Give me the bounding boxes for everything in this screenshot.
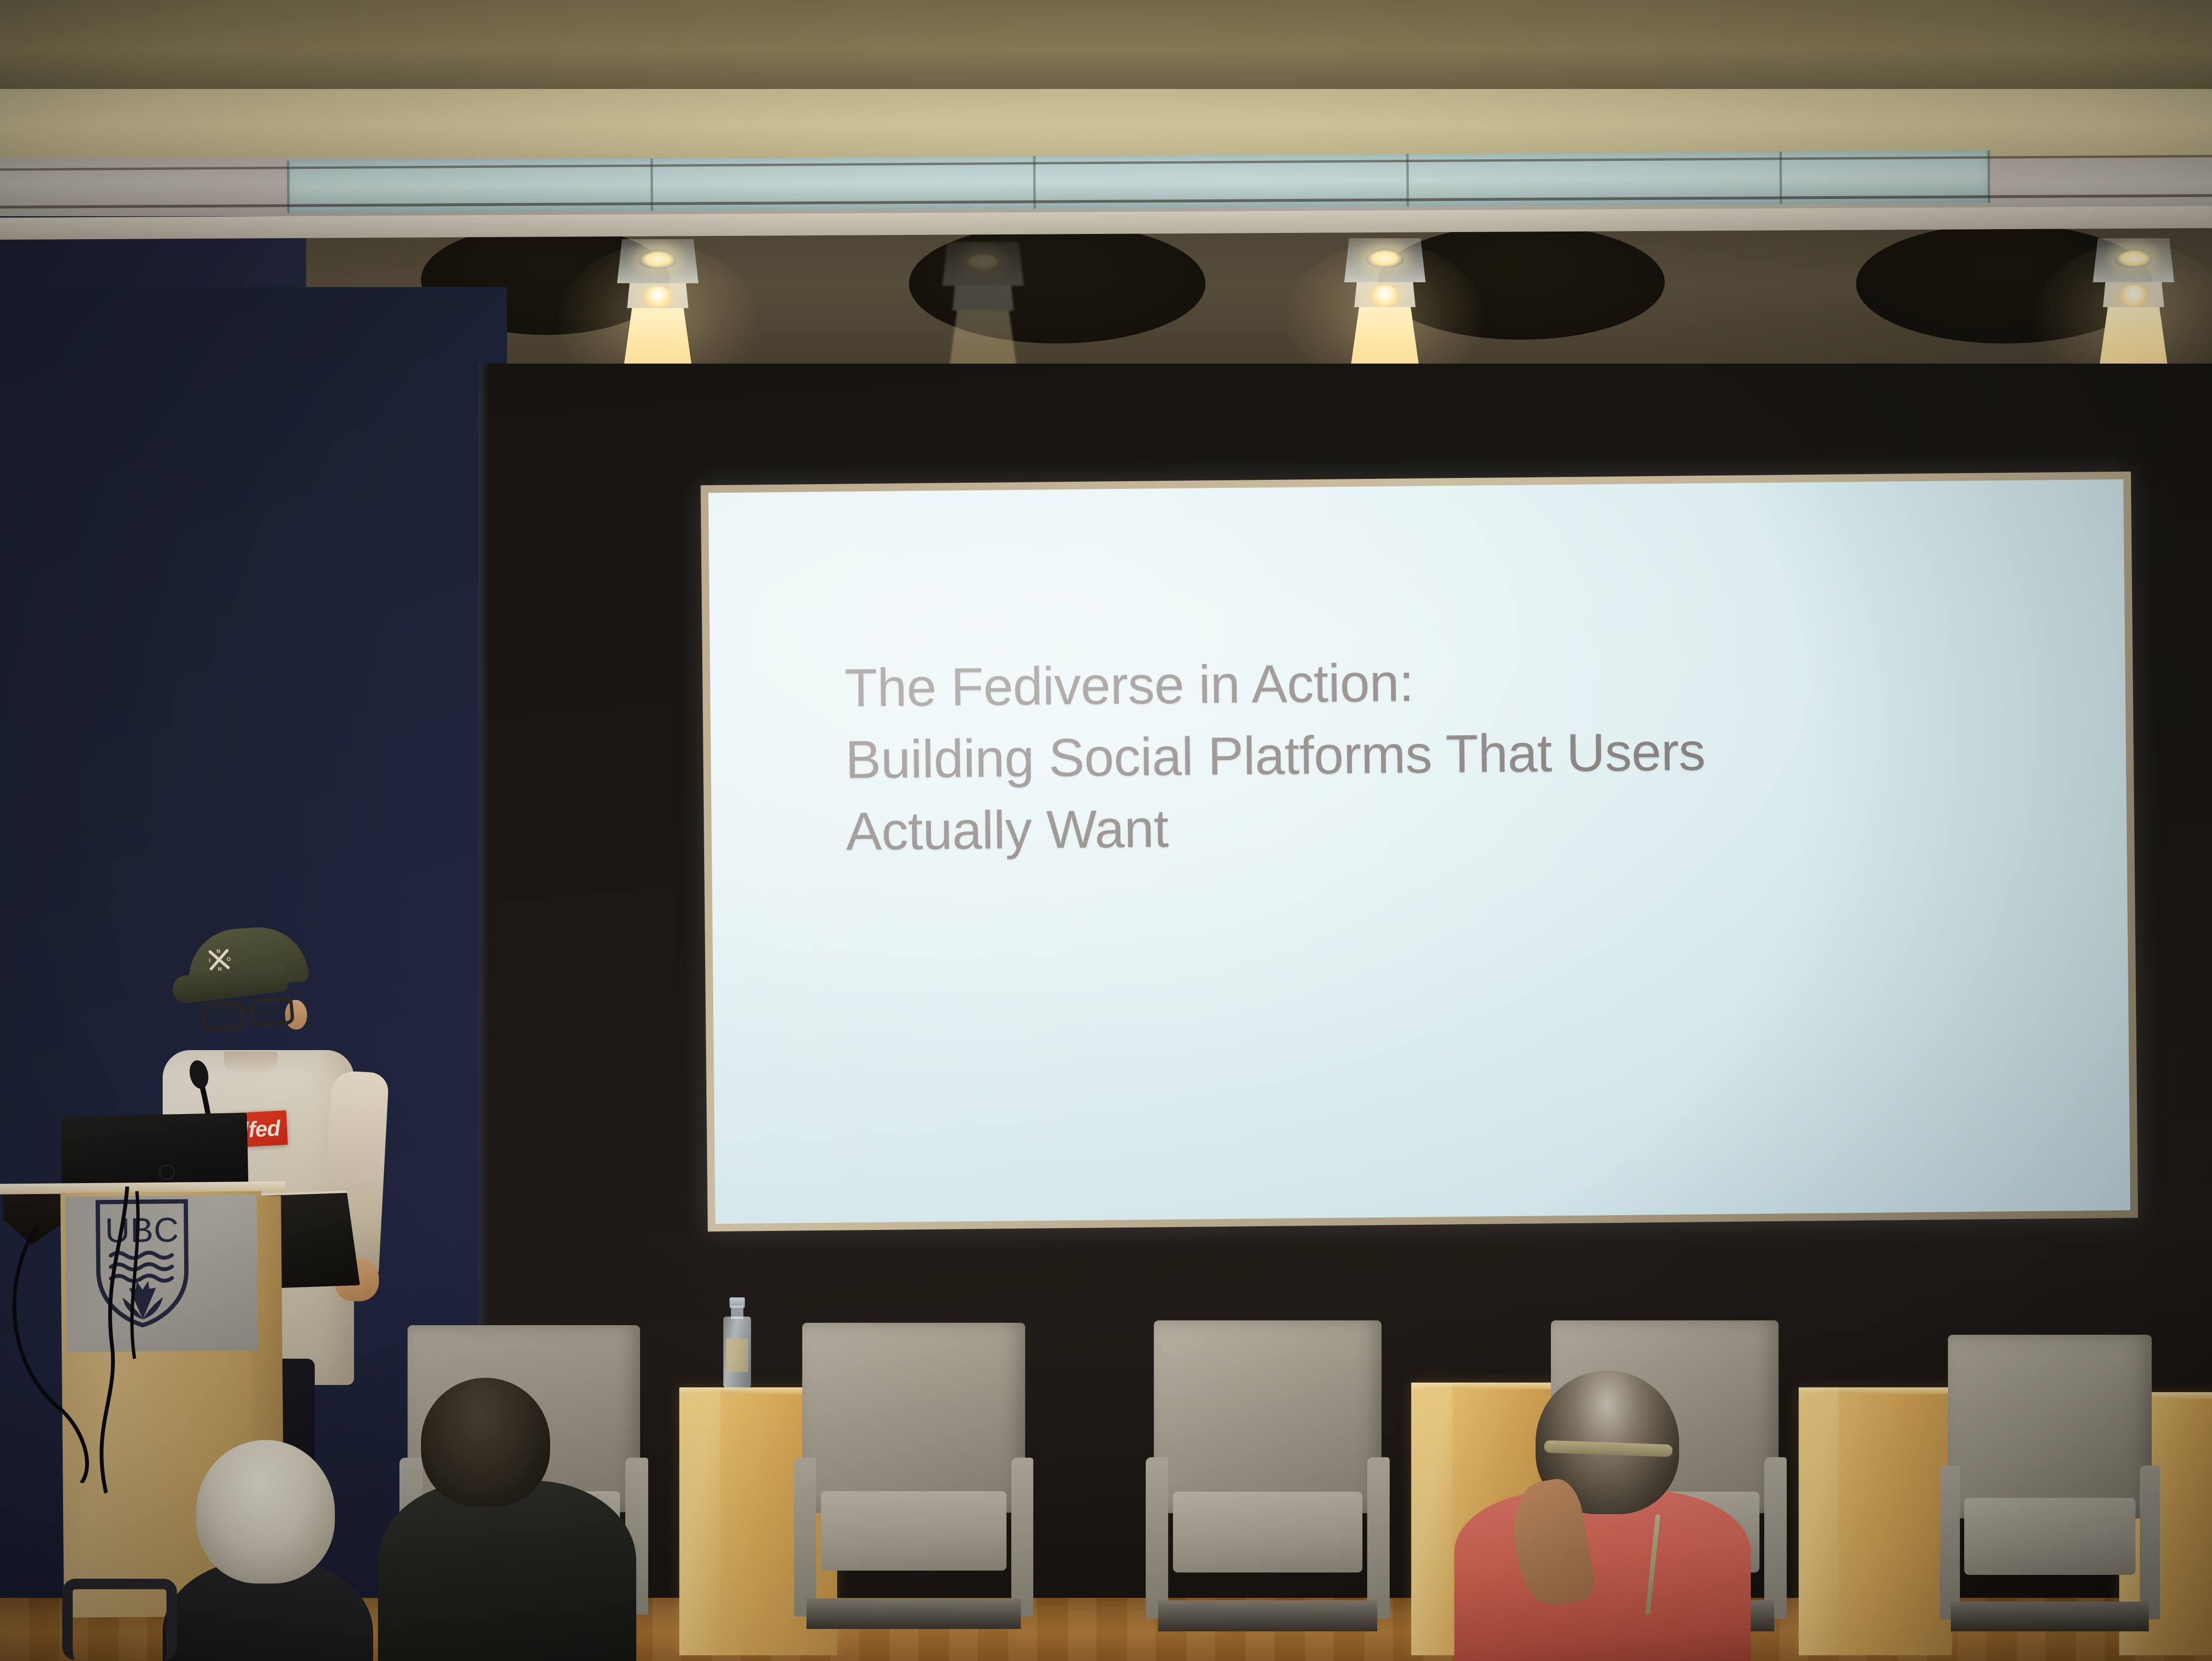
water-bottle[interactable] — [723, 1297, 751, 1388]
ceiling-pendant-light — [926, 242, 1040, 382]
svg-text:N: N — [216, 949, 221, 955]
ceiling-pendant-light — [600, 239, 715, 380]
projection-screen-frame: The Fediverse in Action: Building Social… — [701, 472, 2138, 1232]
projection-screen-surface: The Fediverse in Action: Building Social… — [708, 479, 2131, 1224]
ceiling-pendant-light — [2076, 238, 2191, 379]
slide-title-text: The Fediverse in Action: Building Social… — [844, 641, 2007, 867]
stage-armchair[interactable] — [1143, 1320, 1392, 1631]
audience-member-coral-shirt — [1507, 1371, 1803, 1661]
stage-armchair[interactable] — [792, 1323, 1036, 1629]
slide-line-1: The Fediverse in Action: — [844, 641, 2005, 724]
ceiling-light-band — [0, 89, 2212, 161]
svg-text:N: N — [218, 966, 222, 973]
slide-line-2: Building Social Platforms That Users — [845, 713, 2006, 796]
speaker-glasses — [201, 996, 302, 1034]
ceiling-pendant-light — [1327, 238, 1442, 379]
audience-member-dark-hair — [421, 1378, 679, 1661]
audience-member-white-hair — [196, 1440, 407, 1661]
svg-text:I: I — [209, 958, 210, 963]
ceiling-upper-band — [0, 0, 2212, 91]
svg-text:O: O — [226, 956, 231, 963]
slide-line-3: Actually Want — [846, 785, 2007, 868]
presentation-photo-scene: The Fediverse in Action: Building Social… — [0, 0, 2212, 1661]
floor-cable-loop — [0, 1215, 124, 1483]
stage-armchair[interactable] — [1937, 1335, 2162, 1631]
cap-x-monogram-icon: N O N I — [206, 946, 232, 973]
seat-handle-bar[interactable] — [62, 1579, 177, 1660]
bottle-label — [726, 1339, 748, 1372]
side-table — [1799, 1387, 1952, 1655]
